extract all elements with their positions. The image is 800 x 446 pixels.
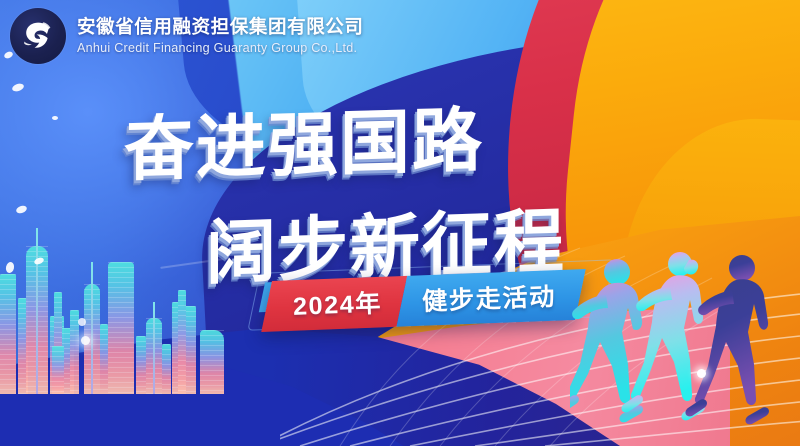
event-label: 健步走活动 — [421, 277, 556, 318]
company-g-emblem-icon — [10, 8, 66, 64]
sub-banner-year-block: 2024年 — [261, 276, 407, 332]
sub-banner-event-block: 健步走活动 — [397, 269, 586, 327]
company-header: 安徽省信用融资担保集团有限公司 Anhui Credit Financing G… — [10, 8, 364, 64]
org-name-en: Anhui Credit Financing Guaranty Group Co… — [77, 41, 364, 55]
org-name-cn: 安徽省信用融资担保集团有限公司 — [77, 17, 364, 38]
highlight-dot — [697, 369, 706, 378]
title-line-1: 奋进强国路 — [124, 78, 700, 195]
year-label: 2024年 — [292, 284, 382, 323]
three-runners-icon — [570, 236, 800, 446]
particle-dot — [78, 318, 86, 326]
poster-banner: 安徽省信用融资担保集团有限公司 Anhui Credit Financing G… — [0, 0, 800, 446]
highlight-dot — [81, 336, 90, 345]
